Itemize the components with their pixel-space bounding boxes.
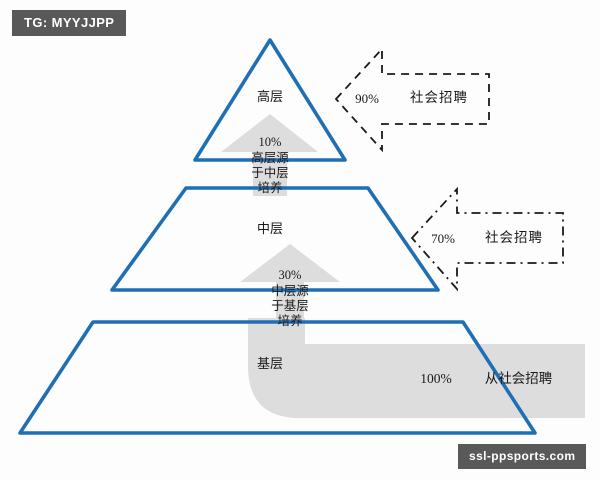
middle-to-top-arrow-line2: 于中层 <box>238 166 302 181</box>
pyramid-label-base: 基层 <box>240 356 300 371</box>
pyramid-label-middle: 中层 <box>240 221 300 236</box>
middle-to-top-arrow-line3: 培养 <box>238 181 302 196</box>
top-callout-percent: 90% <box>342 91 392 106</box>
tg-watermark-badge: TG: MYYJJPP <box>12 10 126 36</box>
base-to-middle-arrow-line1: 中层源 <box>258 284 322 299</box>
diagram-canvas: 高层 中层 基层 10% 高层源 于中层 培养 30% 中层源 于基层 培养 9… <box>0 0 600 480</box>
site-watermark-badge: ssl-ppsports.com <box>458 444 586 469</box>
base-band-text: 从社会招聘 <box>466 371 571 387</box>
base-to-middle-arrow-line2: 于基层 <box>258 299 322 314</box>
base-band-percent: 100% <box>408 371 464 387</box>
base-to-middle-arrow-line3: 培养 <box>258 314 322 329</box>
middle-callout-text: 社会招聘 <box>473 230 555 246</box>
pyramid-label-top: 高层 <box>240 89 300 104</box>
middle-to-top-arrow-line1: 高层源 <box>238 151 302 166</box>
base-to-middle-arrow-percent: 30% <box>258 268 322 283</box>
middle-to-top-arrow-percent: 10% <box>238 135 302 150</box>
top-callout-text: 社会招聘 <box>398 90 480 106</box>
middle-callout-percent: 70% <box>418 231 468 246</box>
